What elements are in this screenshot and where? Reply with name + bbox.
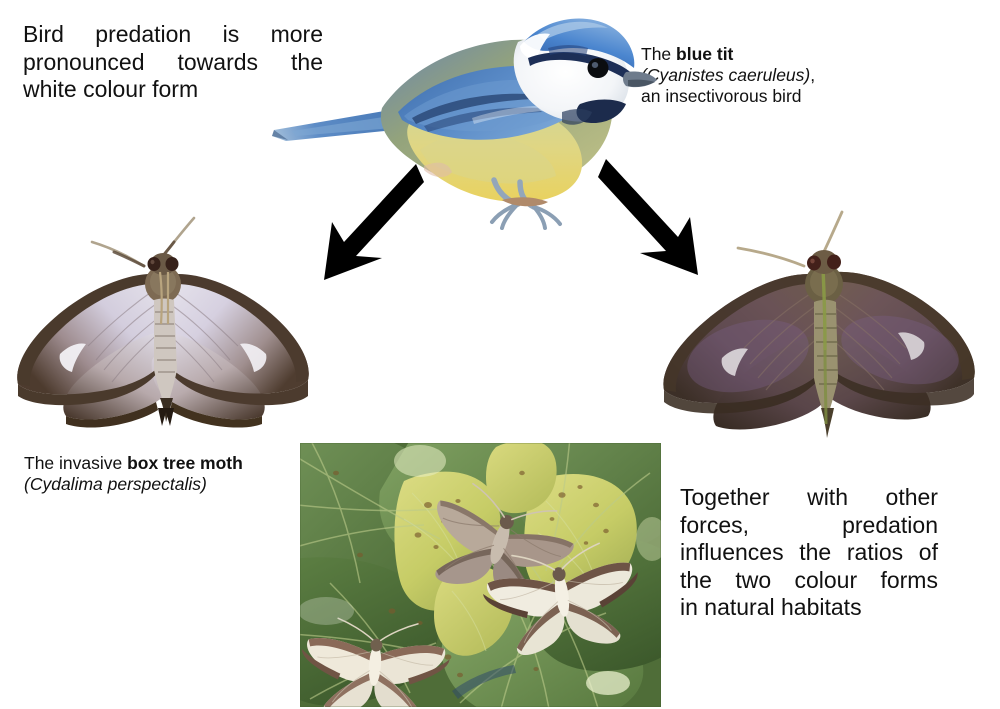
caption-blue-tit-comma: , [810,65,815,85]
caption-together-line-4: thetwocolourforms [680,567,938,595]
caption-blue-tit-species-common: blue tit [676,44,733,64]
leaf-photo-content [300,443,661,707]
caption-blue-tit-prefix: The [641,44,676,64]
moth-white-antennae [92,218,194,266]
caption-moth-species-common: box tree moth [127,453,243,473]
bird-tail [272,110,394,141]
caption-together: Togetherwithother forces,predation influ… [680,484,938,622]
caption-together-line-2: forces,predation [680,512,938,540]
box-tree-moth-white-form [8,212,320,444]
figure-canvas: Birdpredationismore pronouncedtowardsthe… [0,0,1000,709]
moths-on-leaves-photo [300,443,661,707]
bird-feet [492,204,560,228]
box-tree-moth-dark-form [638,210,986,446]
caption-together-line-3: influencestheratiosof [680,539,938,567]
caption-moth-line-1: The invasive box tree moth [24,453,324,474]
caption-moth-species-latin: (Cydalima perspectalis) [24,474,324,495]
arrow-to-white-moth [312,160,424,282]
caption-blue-tit: The blue tit (Cyanistes caeruleus), an i… [641,44,871,107]
caption-blue-tit-line-3: an insectivorous bird [641,86,871,107]
caption-blue-tit-line-1: The blue tit [641,44,871,65]
caption-blue-tit-species-latin: (Cyanistes caeruleus) [641,65,810,85]
caption-together-line-1: Togetherwithother [680,484,938,512]
caption-blue-tit-line-2: (Cyanistes caeruleus), [641,65,871,86]
caption-box-tree-moth: The invasive box tree moth (Cydalima per… [24,453,324,495]
caption-together-line-5: in natural habitats [680,594,938,622]
caption-moth-prefix: The invasive [24,453,127,473]
